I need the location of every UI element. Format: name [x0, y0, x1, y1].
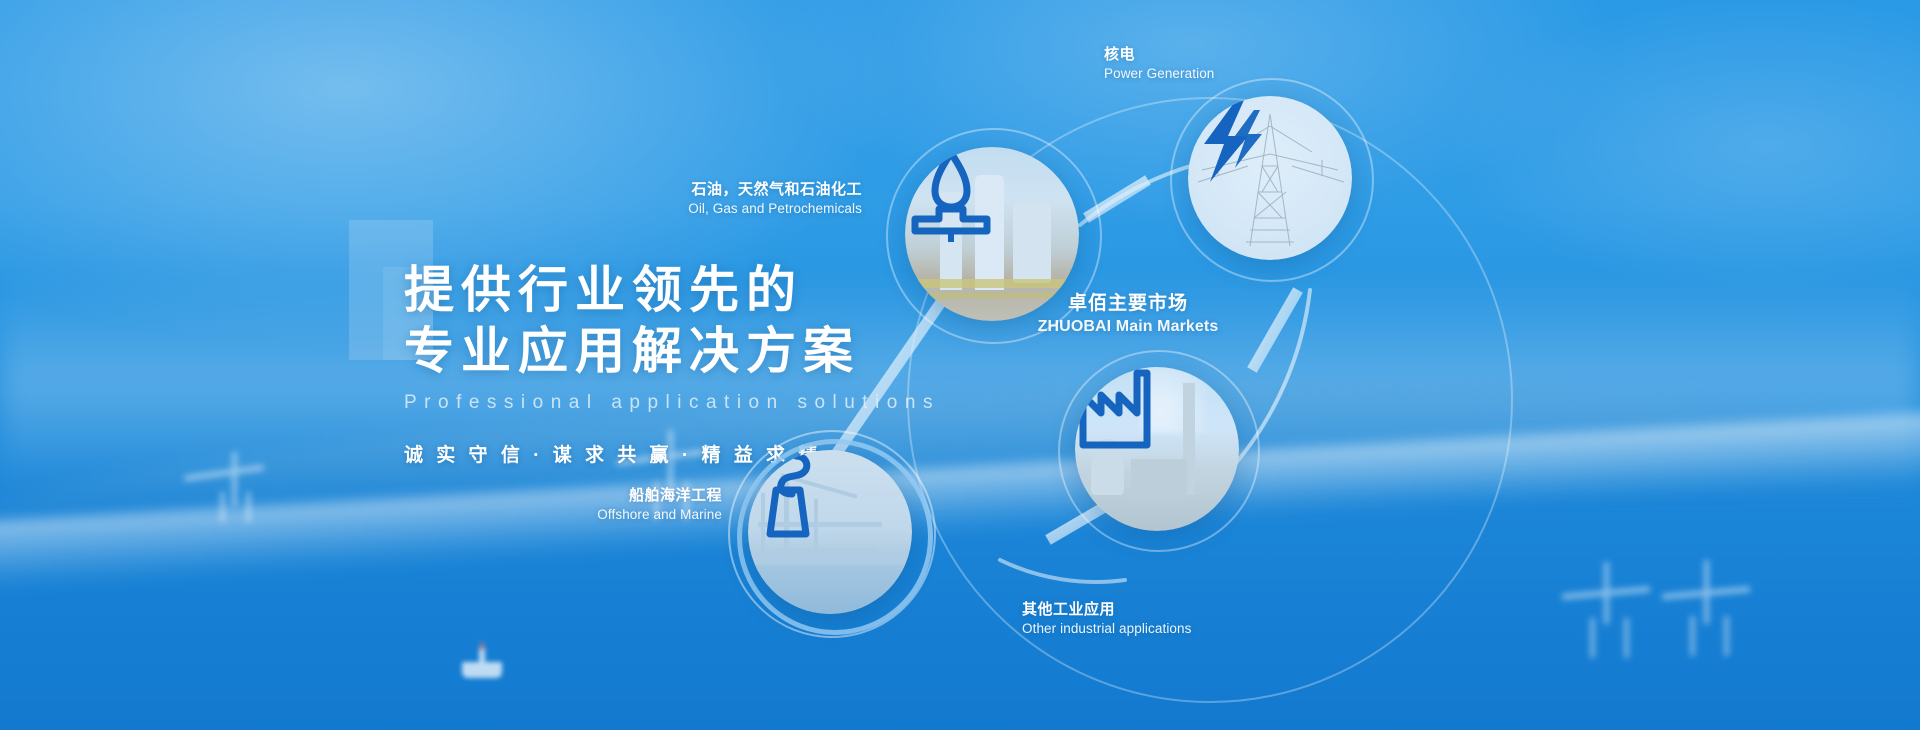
lightning-bolt-icon — [1188, 96, 1352, 260]
node-power-generation[interactable] — [1188, 96, 1352, 260]
label-marine-en: Offshore and Marine — [462, 506, 722, 524]
label-power-cn: 核电 — [1104, 45, 1344, 65]
node-other-industrial[interactable] — [1075, 367, 1239, 531]
markets-diagram: 石油，天然气和石油化工 Oil, Gas and Petrochemicals — [880, 40, 1920, 730]
label-power-generation: 核电 Power Generation — [1104, 45, 1344, 82]
label-offshore-marine: 船舶海洋工程 Offshore and Marine — [462, 486, 722, 523]
label-power-en: Power Generation — [1104, 65, 1344, 83]
ship-buoy-icon — [748, 450, 912, 614]
hero-banner: 提供行业领先的 专业应用解决方案 Professional applicatio… — [0, 0, 1920, 730]
label-oil-gas: 石油，天然气和石油化工 Oil, Gas and Petrochemicals — [602, 180, 862, 217]
node-offshore-marine[interactable] — [748, 450, 912, 614]
label-industrial-cn: 其他工业应用 — [1022, 600, 1322, 620]
label-oil-gas-en: Oil, Gas and Petrochemicals — [602, 200, 862, 218]
label-marine-cn: 船舶海洋工程 — [462, 486, 722, 506]
connector-arc-industrial-marine — [1000, 560, 1125, 582]
center-title-en: ZHUOBAI Main Markets — [948, 317, 1308, 338]
label-other-industrial: 其他工业应用 Other industrial applications — [1022, 600, 1322, 637]
background-ship — [462, 648, 502, 678]
factory-icon — [1075, 367, 1239, 531]
label-industrial-en: Other industrial applications — [1022, 620, 1322, 638]
diagram-center-title: 卓佰主要市场 ZHUOBAI Main Markets — [948, 292, 1308, 337]
center-title-cn: 卓佰主要市场 — [948, 292, 1308, 317]
label-oil-gas-cn: 石油，天然气和石油化工 — [602, 180, 862, 200]
background-crane-left — [180, 452, 270, 522]
